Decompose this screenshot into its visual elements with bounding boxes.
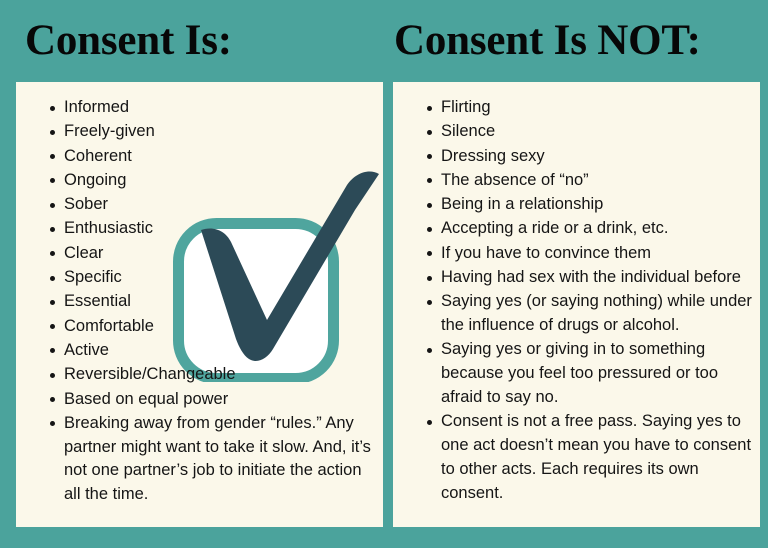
consent-infographic: Consent Is: Consent Is NOT: Informed Fre…	[0, 0, 768, 548]
list-item: Specific	[50, 266, 382, 290]
list-item: If you have to convince them	[427, 242, 757, 266]
list-item: Active	[50, 339, 382, 363]
list-item: Accepting a ride or a drink, etc.	[427, 217, 757, 241]
consent-is-card: Informed Freely-given Coherent Ongoing S…	[16, 82, 383, 527]
list-item: Flirting	[427, 96, 757, 120]
right-panel-title: Consent Is NOT:	[394, 18, 701, 64]
list-item: Ongoing	[50, 169, 382, 193]
list-item: Essential	[50, 290, 382, 314]
list-item: Dressing sexy	[427, 145, 757, 169]
list-item: Breaking away from gender “rules.” Any p…	[50, 412, 382, 507]
consent-is-not-list: Flirting Silence Dressing sexy The absen…	[393, 82, 760, 506]
list-item: Silence	[427, 120, 757, 144]
list-item: Comfortable	[50, 315, 382, 339]
list-item: Based on equal power	[50, 388, 382, 412]
list-item: Having had sex with the individual befor…	[427, 266, 757, 290]
list-item: Informed	[50, 96, 382, 120]
consent-is-not-card: Flirting Silence Dressing sexy The absen…	[393, 82, 760, 527]
list-item: Saying yes (or saying nothing) while und…	[427, 290, 757, 338]
consent-is-list: Informed Freely-given Coherent Ongoing S…	[16, 82, 383, 507]
list-item: Consent is not a free pass. Saying yes t…	[427, 410, 757, 505]
list-item: Saying yes or giving in to something bec…	[427, 338, 757, 409]
list-item: Enthusiastic	[50, 217, 382, 241]
list-item: Sober	[50, 193, 382, 217]
list-item: Coherent	[50, 145, 382, 169]
list-item: Being in a relationship	[427, 193, 757, 217]
list-item: Clear	[50, 242, 382, 266]
list-item: Reversible/Changeable	[50, 363, 382, 387]
list-item: Freely-given	[50, 120, 382, 144]
list-item: The absence of “no”	[427, 169, 757, 193]
left-panel-title: Consent Is:	[25, 18, 232, 64]
